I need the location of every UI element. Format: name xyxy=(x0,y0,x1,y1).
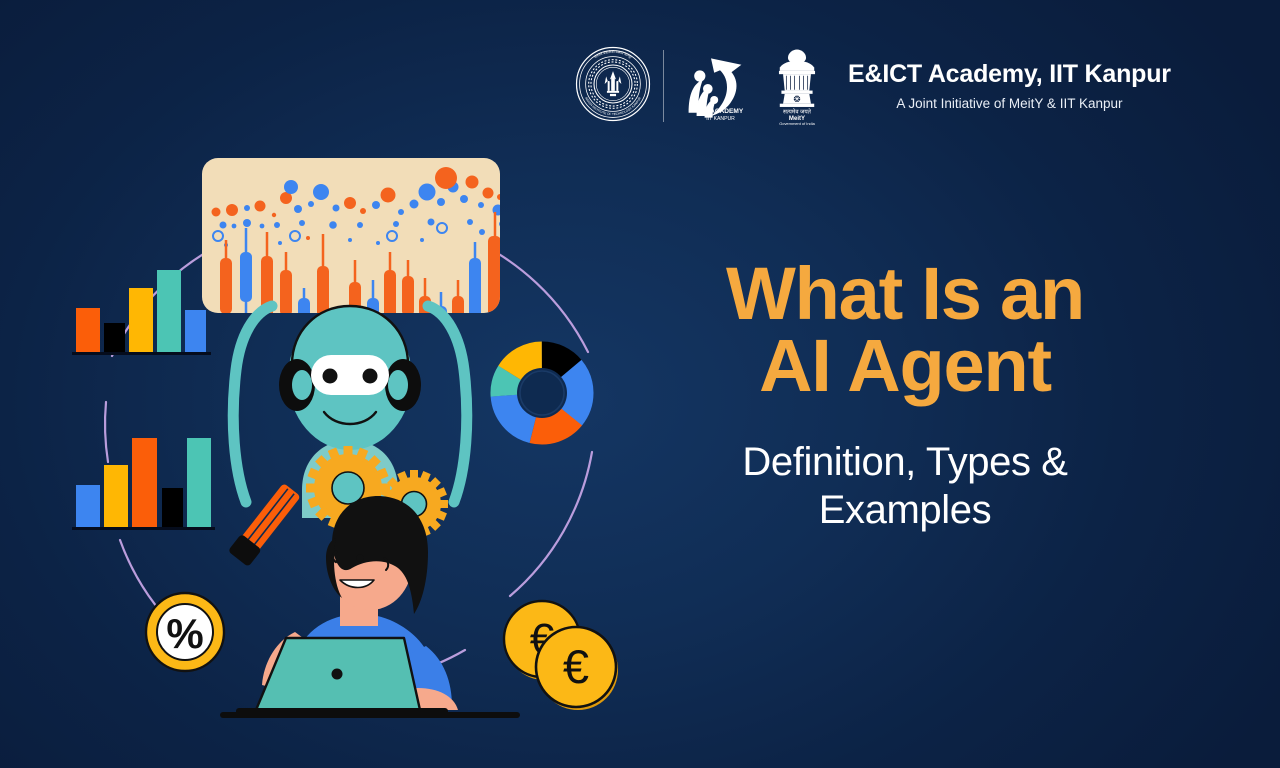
page-title: What Is an AI Agent xyxy=(660,258,1150,402)
title-line-1: What Is an xyxy=(726,252,1084,335)
svg-text:%: % xyxy=(166,610,203,657)
bar-chart-bottom xyxy=(72,438,215,530)
svg-text:सत्यमेव जयते: सत्यमेव जयते xyxy=(783,107,812,115)
subtitle-line-2: Examples xyxy=(660,486,1150,535)
donut-chart xyxy=(488,339,595,446)
subtitle-line-1: Definition, Types & xyxy=(742,440,1067,484)
bar-chart-top xyxy=(72,270,211,355)
hero-illustration: € € % xyxy=(40,140,660,740)
logo-divider xyxy=(663,50,664,122)
brand-text-block: E&ICT Academy, IIT Kanpur A Joint Initia… xyxy=(848,61,1171,111)
title-line-2: AI Agent xyxy=(660,330,1150,402)
svg-text:Government of India: Government of India xyxy=(779,121,815,125)
academy-name: E&ICT Academy, IIT Kanpur xyxy=(848,61,1171,89)
euro-coins-icon: € € xyxy=(504,601,618,710)
meity-emblem-icon: सत्यमेव जयते MeitY Government of India xyxy=(768,43,826,130)
header-logo-lockup: भारतीय प्रौद्योगिकी संस्थान कानपुर INDIA… xyxy=(575,36,1240,136)
iit-kanpur-seal-icon: भारतीय प्रौद्योगिकी संस्थान कानपुर INDIA… xyxy=(575,46,651,127)
desk-surface xyxy=(220,712,520,718)
svg-text:IIT KANPUR: IIT KANPUR xyxy=(706,116,735,122)
svg-text:€: € xyxy=(563,640,589,693)
promo-banner: भारतीय प्रौद्योगिकी संस्थान कानपुर INDIA… xyxy=(0,0,1280,768)
robot-eye-right xyxy=(363,369,378,384)
svg-text:भारतीय प्रौद्योगिकी संस्थान का: भारतीय प्रौद्योगिकी संस्थान कानपुर xyxy=(593,49,633,59)
svg-text:ICT ACADEMY: ICT ACADEMY xyxy=(698,107,744,114)
headline-block: What Is an AI Agent Definition, Types & … xyxy=(660,258,1150,535)
ict-academy-logo-icon: ICT ACADEMY IIT KANPUR xyxy=(678,44,760,129)
academy-tagline: A Joint Initiative of MeitY & IIT Kanpur xyxy=(848,96,1171,111)
page-subtitle: Definition, Types & Examples xyxy=(660,438,1150,536)
robot-eye-left xyxy=(323,369,338,384)
